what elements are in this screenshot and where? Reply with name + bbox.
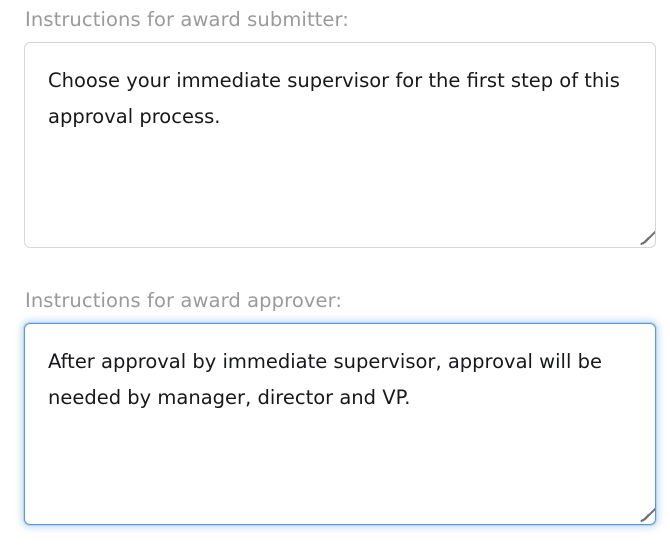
instructions-form: Instructions for award submitter: Choose…: [0, 0, 670, 552]
label-award-approver-instructions: Instructions for award approver:: [25, 289, 670, 313]
textarea-wrap-award-approver: After approval by immediate supervisor, …: [24, 323, 656, 525]
label-award-submitter-instructions: Instructions for award submitter:: [25, 8, 670, 32]
resize-grip-icon[interactable]: [637, 506, 652, 521]
textarea-award-submitter-instructions[interactable]: Choose your immediate supervisor for the…: [24, 42, 656, 248]
textarea-award-approver-instructions[interactable]: After approval by immediate supervisor, …: [24, 323, 656, 525]
textarea-value-award-approver: After approval by immediate supervisor, …: [48, 344, 633, 416]
resize-grip-icon[interactable]: [637, 229, 652, 244]
field-group-award-approver: Instructions for award approver: After a…: [0, 289, 670, 525]
field-group-award-submitter: Instructions for award submitter: Choose…: [0, 8, 670, 248]
textarea-value-award-submitter: Choose your immediate supervisor for the…: [48, 63, 633, 135]
textarea-wrap-award-submitter: Choose your immediate supervisor for the…: [24, 42, 656, 248]
